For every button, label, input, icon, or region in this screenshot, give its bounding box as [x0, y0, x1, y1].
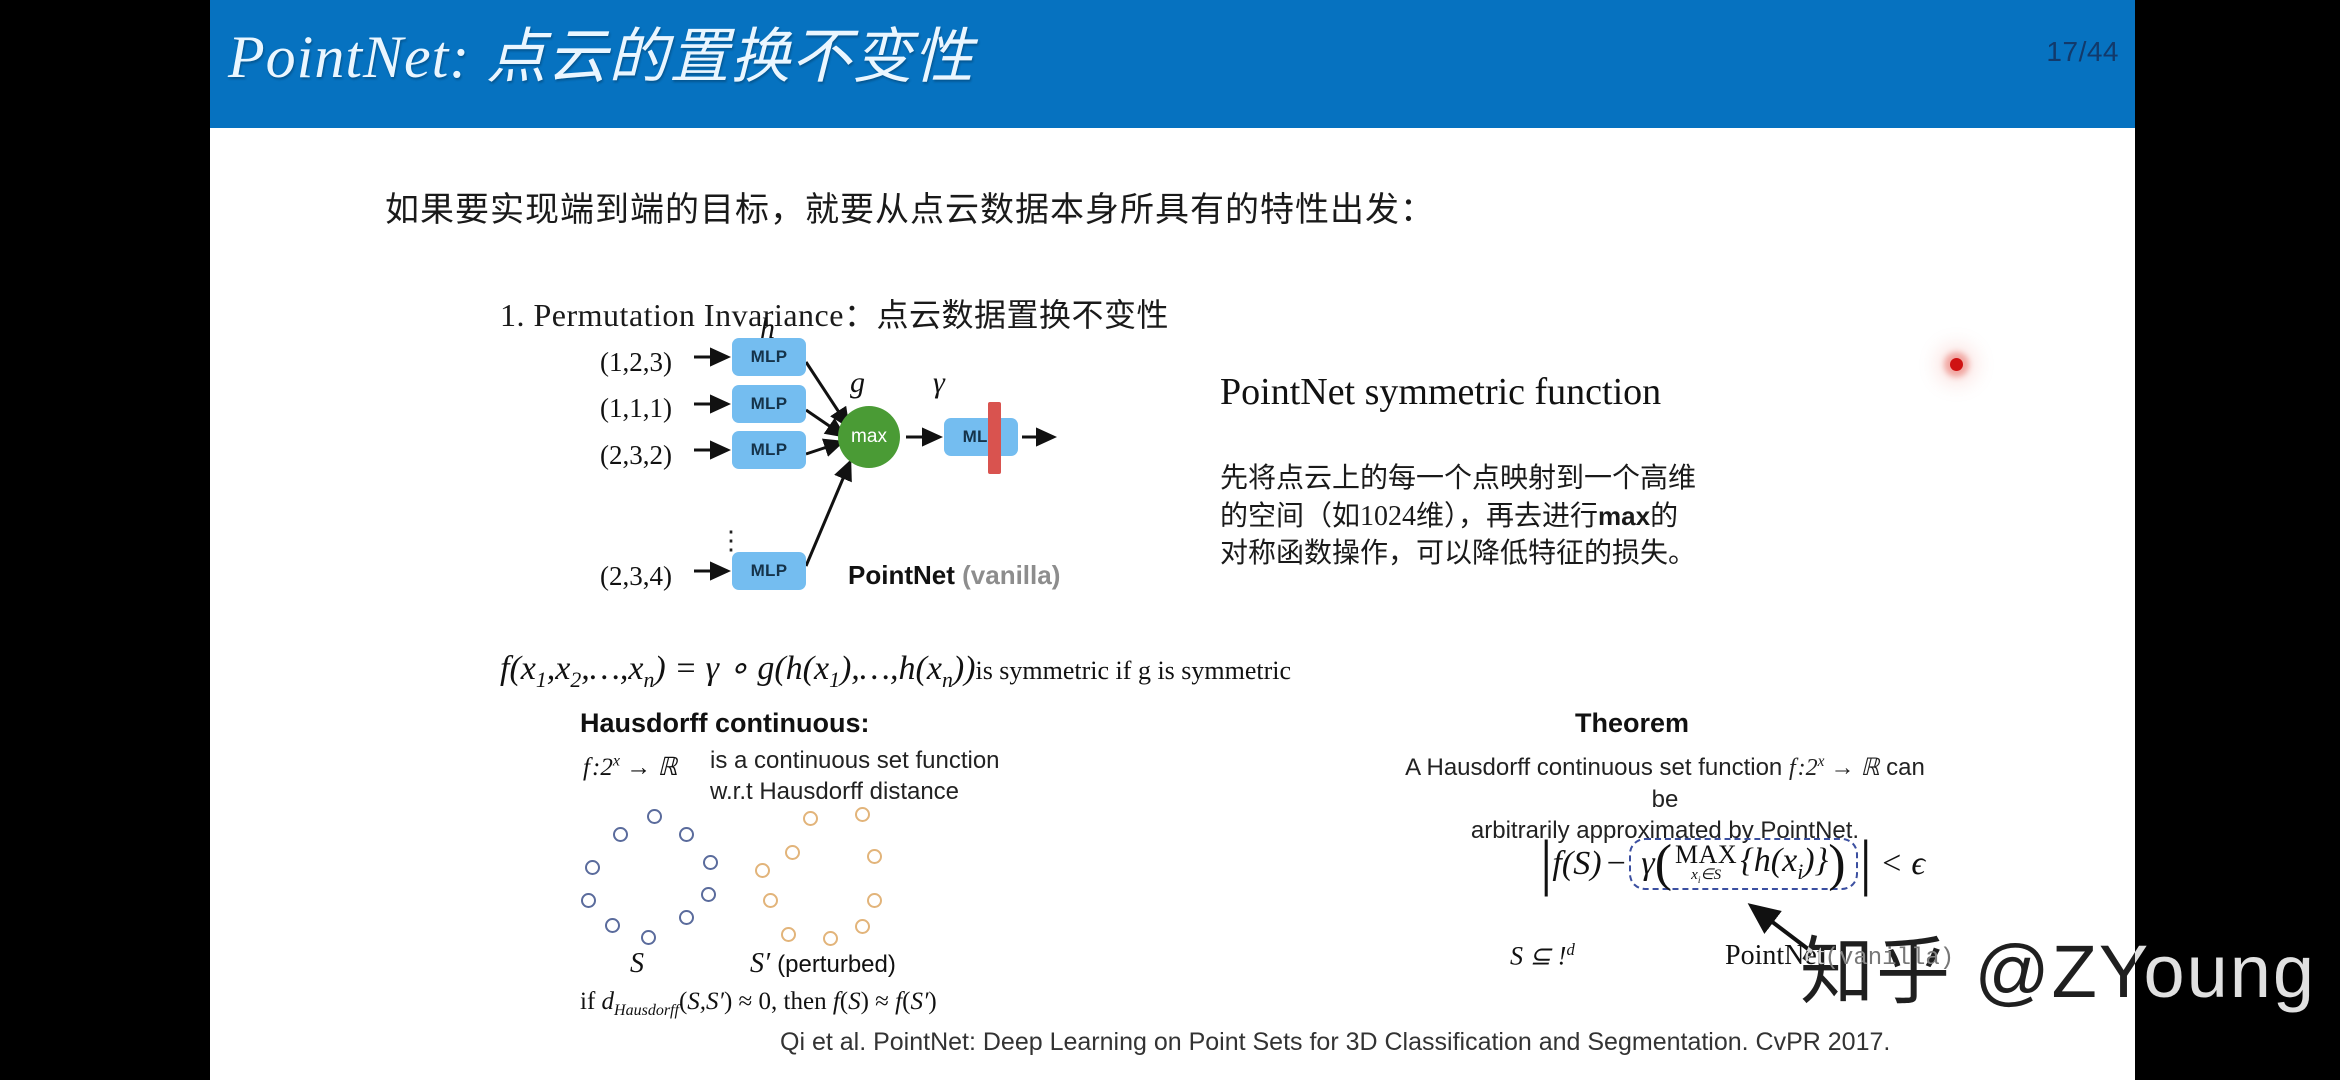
point-dot	[679, 910, 694, 925]
point-dot	[581, 893, 596, 908]
point-dot	[613, 827, 628, 842]
symmetry-formula: f(x1,x2,…,xn) = γ ∘ g(h(x1),…,h(xn))is s…	[500, 648, 1291, 693]
point-dot	[867, 893, 882, 908]
point-dot	[855, 807, 870, 822]
theorem-equation: | f(S) − γ ( MAX xi∈S {h(xi)} ) | < ϵ	[1540, 838, 1925, 890]
page-title: PointNet: 点云的置换不变性	[228, 8, 974, 95]
point-dot	[867, 849, 882, 864]
annotation-line-2-c: 的	[1650, 501, 1678, 532]
point-dot	[703, 855, 718, 870]
point-dot	[803, 811, 818, 826]
mlp-box-0: MLP	[732, 338, 806, 376]
diagram-caption-soft: (vanilla)	[962, 560, 1060, 590]
lead-paragraph: 如果要实现端到端的目标，就要从点云数据本身所具有的特性出发：	[385, 182, 1435, 231]
point-dot	[701, 887, 716, 902]
paren-right: )	[1828, 844, 1845, 883]
annotation-line-2-a: 的空间（如1024维），再去进行	[1220, 501, 1598, 532]
point-cloud-s-label: S	[630, 948, 644, 980]
annotation-line-1: 先将点云上的每一个点映射到一个高维	[1220, 460, 1696, 498]
s-prime-suffix: (perturbed)	[777, 951, 896, 978]
max-operator: MAX xi∈S	[1675, 842, 1737, 886]
annotation-line-3: 对称函数操作，可以降低特征的损失。	[1220, 535, 1696, 573]
mlp-box-2: MLP	[732, 431, 806, 469]
watermark: 知乎 @ZYoung	[1800, 912, 2316, 1019]
chinese-annotation: 先将点云上的每一个点映射到一个高维 的空间（如1024维），再去进行max的 对…	[1220, 460, 1696, 573]
hausdorff-heading: Hausdorff continuous:	[580, 708, 869, 739]
max-pooling-node: max	[838, 406, 900, 468]
point-dot	[641, 930, 656, 945]
theorem-heading: Theorem	[1575, 708, 1689, 739]
hausdorff-description: is a continuous set function w.r.t Hausd…	[710, 745, 1000, 807]
screen: PointNet: 点云的置换不变性 17/44 如果要实现端到端的目标，就要从…	[0, 0, 2340, 1080]
point-dot	[781, 927, 796, 942]
annotation-line-2-max: max	[1598, 501, 1650, 531]
diagram-caption: PointNet (vanilla)	[848, 560, 1060, 591]
h-set: {h(xi)}	[1740, 842, 1828, 885]
hausdorff-bottom-formula: if dHausdorff(S,S′) ≈ 0, then f(S) ≈ f(S…	[580, 988, 937, 1020]
laser-pointer-dot	[1950, 358, 1963, 371]
page-number: 17/44	[2046, 36, 2119, 68]
point-dot	[763, 893, 778, 908]
pointnet-vanilla-diagram: h g γ (1,2,3) (1,1,1) (2,3,2) (2,3,4) ⋮	[610, 330, 1170, 630]
symmetry-formula-tail: is symmetric if g is symmetric	[975, 656, 1291, 685]
symmetric-function-heading: PointNet symmetric function	[1220, 370, 1661, 414]
theorem-line-1a: A Hausdorff continuous set function	[1405, 754, 1789, 781]
point-cloud-s-prime	[745, 805, 935, 955]
point-dot	[605, 918, 620, 933]
abs-bar-left: |	[1540, 839, 1552, 889]
citation-line: Qi et al. PointNet: Deep Learning on Poi…	[780, 1028, 1890, 1057]
mlp-box-3: MLP	[732, 552, 806, 590]
s-prime-symbol: S′	[750, 948, 770, 979]
point-dot	[585, 860, 600, 875]
slide-header-bar: PointNet: 点云的置换不变性 17/44	[210, 0, 2135, 128]
paren-left: (	[1655, 844, 1672, 883]
hausdorff-desc-line-1: is a continuous set function	[710, 745, 1000, 776]
gamma-symbol: γ	[1641, 845, 1654, 883]
point-cloud-s	[575, 805, 765, 955]
point-dot	[647, 809, 662, 824]
domain-note: S ⊆ !d	[1510, 940, 1575, 972]
point-cloud-s-prime-label: S′ (perturbed)	[750, 948, 896, 980]
mlp-box-1: MLP	[732, 385, 806, 423]
point-dot	[855, 919, 870, 934]
abs-bar-right: |	[1860, 839, 1872, 889]
output-feature-bar	[988, 402, 1001, 474]
mlp-box-gamma: MLP	[944, 418, 1018, 456]
pointnet-vanilla-highlight-box: γ ( MAX xi∈S {h(xi)} )	[1629, 838, 1857, 890]
point-dot	[785, 845, 800, 860]
theorem-statement: A Hausdorff continuous set function f :2…	[1405, 752, 1925, 847]
equation-lhs: f(S) −	[1552, 845, 1627, 883]
hausdorff-function-notation: f :2x → ℝ	[583, 752, 677, 782]
point-dot	[755, 863, 770, 878]
annotation-line-2: 的空间（如1024维），再去进行max的	[1220, 498, 1696, 536]
diagram-caption-bold: PointNet	[848, 560, 955, 590]
equation-rhs: < ϵ	[1880, 845, 1925, 883]
hausdorff-desc-line-2: w.r.t Hausdorff distance	[710, 776, 1000, 807]
point-dot	[679, 827, 694, 842]
point-dot	[823, 931, 838, 946]
